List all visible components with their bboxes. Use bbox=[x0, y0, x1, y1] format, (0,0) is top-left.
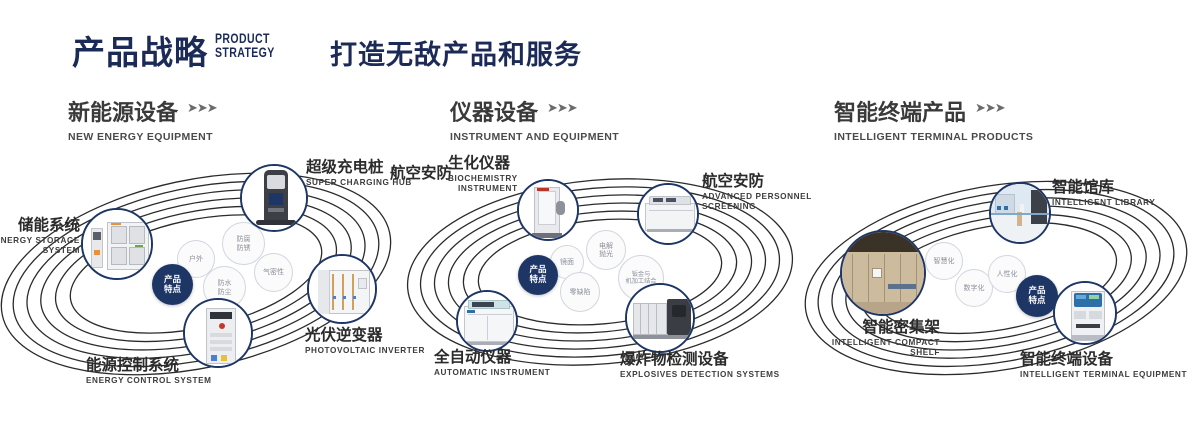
page-header: 产品战略 PRODUCT STRATEGY 打造无敌产品和服务 bbox=[0, 0, 1200, 88]
section-title-en: INTELLIGENT TERMINAL PRODUCTS bbox=[834, 131, 1033, 143]
chevrons-icon: ➤➤➤ bbox=[187, 100, 217, 116]
node-photovoltaic-inverter[interactable] bbox=[307, 254, 377, 324]
section-heading-new-energy: 新能源设备➤➤➤ NEW ENERGY EQUIPMENT bbox=[68, 95, 217, 143]
node-label-explosives-detection-systems: 爆炸物检测设备 EXPLOSIVES DETECTION SYSTEMS bbox=[620, 350, 780, 380]
node-intelligent-library[interactable] bbox=[989, 182, 1051, 244]
feature-bubble: 零缺陷 bbox=[560, 272, 600, 312]
chevrons-icon: ➤➤➤ bbox=[547, 100, 577, 116]
node-intelligent-terminal-equipment[interactable] bbox=[1053, 281, 1117, 345]
core-bubble-product-features: 产品特点 bbox=[518, 255, 558, 295]
node-label-advanced-personnel-screening: 航空安防 ADVANCED PERSONNEL SCREENING bbox=[702, 172, 812, 212]
node-biochemistry-instrument[interactable] bbox=[517, 179, 579, 241]
node-explosives-detection-systems[interactable] bbox=[625, 283, 695, 353]
cluster-instrument: 镜面 电解抛光 零缺陷 钣金与机加工结合 产品特点 航空安防 生化仪器 BIOC… bbox=[400, 150, 800, 420]
section-title-en: INSTRUMENT AND EQUIPMENT bbox=[450, 131, 619, 143]
section-title-cn: 仪器设备 bbox=[450, 95, 538, 127]
feature-bubble: 智慧化 bbox=[925, 242, 963, 280]
page-slogan: 打造无敌产品和服务 bbox=[330, 33, 582, 72]
node-advanced-personnel-screening[interactable] bbox=[637, 183, 699, 245]
node-label-aviation-security: 航空安防 bbox=[390, 164, 450, 182]
node-energy-storage-system[interactable] bbox=[81, 208, 153, 280]
node-label-intelligent-compact-shelf: 智能密集架 INTELLIGENT COMPACT SHELF bbox=[810, 318, 940, 358]
section-title-cn: 新能源设备 bbox=[68, 95, 178, 127]
page-title-en: PRODUCT STRATEGY bbox=[215, 32, 275, 60]
section-title-cn: 智能终端产品 bbox=[834, 95, 966, 127]
node-automatic-instrument[interactable] bbox=[456, 290, 518, 352]
node-label-energy-control-system: 能源控制系统 ENERGY CONTROL SYSTEM bbox=[86, 356, 212, 386]
section-title-en: NEW ENERGY EQUIPMENT bbox=[68, 131, 217, 143]
feature-bubble: 电解抛光 bbox=[586, 230, 626, 270]
node-intelligent-compact-shelf[interactable] bbox=[840, 230, 926, 316]
cluster-new-energy: 户外 防腐防锈 防水防尘 气密性 产品特点 储能系统 ENERGY STORAG… bbox=[0, 150, 400, 420]
node-label-energy-storage-system: 储能系统 ENERGY STORAGE SYSTEM bbox=[0, 216, 80, 256]
node-label-intelligent-terminal-equipment: 智能终端设备 INTELLIGENT TERMINAL EQUIPMENT bbox=[1020, 350, 1187, 380]
node-label-automatic-instrument: 全自动仪器 AUTOMATIC INSTRUMENT bbox=[434, 348, 550, 378]
core-bubble-product-features: 产品特点 bbox=[1016, 275, 1058, 317]
node-label-intelligent-library: 智能馆库 INTELLIGENT LIBRARY bbox=[1052, 178, 1155, 208]
cluster-intelligent-terminal: 智慧化 数字化 人性化 产品特点 智能馆库 INTELLIGENT LIBRAR… bbox=[800, 150, 1200, 420]
page-title-en-line1: PRODUCT bbox=[215, 32, 275, 46]
node-super-charging-hub[interactable] bbox=[240, 164, 308, 232]
section-heading-instrument: 仪器设备➤➤➤ INSTRUMENT AND EQUIPMENT bbox=[450, 95, 619, 143]
page-title-en-line2: STRATEGY bbox=[215, 46, 275, 60]
node-label-biochemistry-instrument: 生化仪器 BIOCHEMISTRY INSTRUMENT bbox=[448, 154, 518, 194]
page-title-cn: 产品战略 bbox=[72, 26, 208, 74]
section-heading-intelligent-terminal: 智能终端产品➤➤➤ INTELLIGENT TERMINAL PRODUCTS bbox=[834, 95, 1033, 143]
chevrons-icon: ➤➤➤ bbox=[975, 100, 1005, 116]
feature-bubble: 气密性 bbox=[254, 253, 293, 292]
core-bubble-product-features: 产品特点 bbox=[152, 264, 193, 305]
